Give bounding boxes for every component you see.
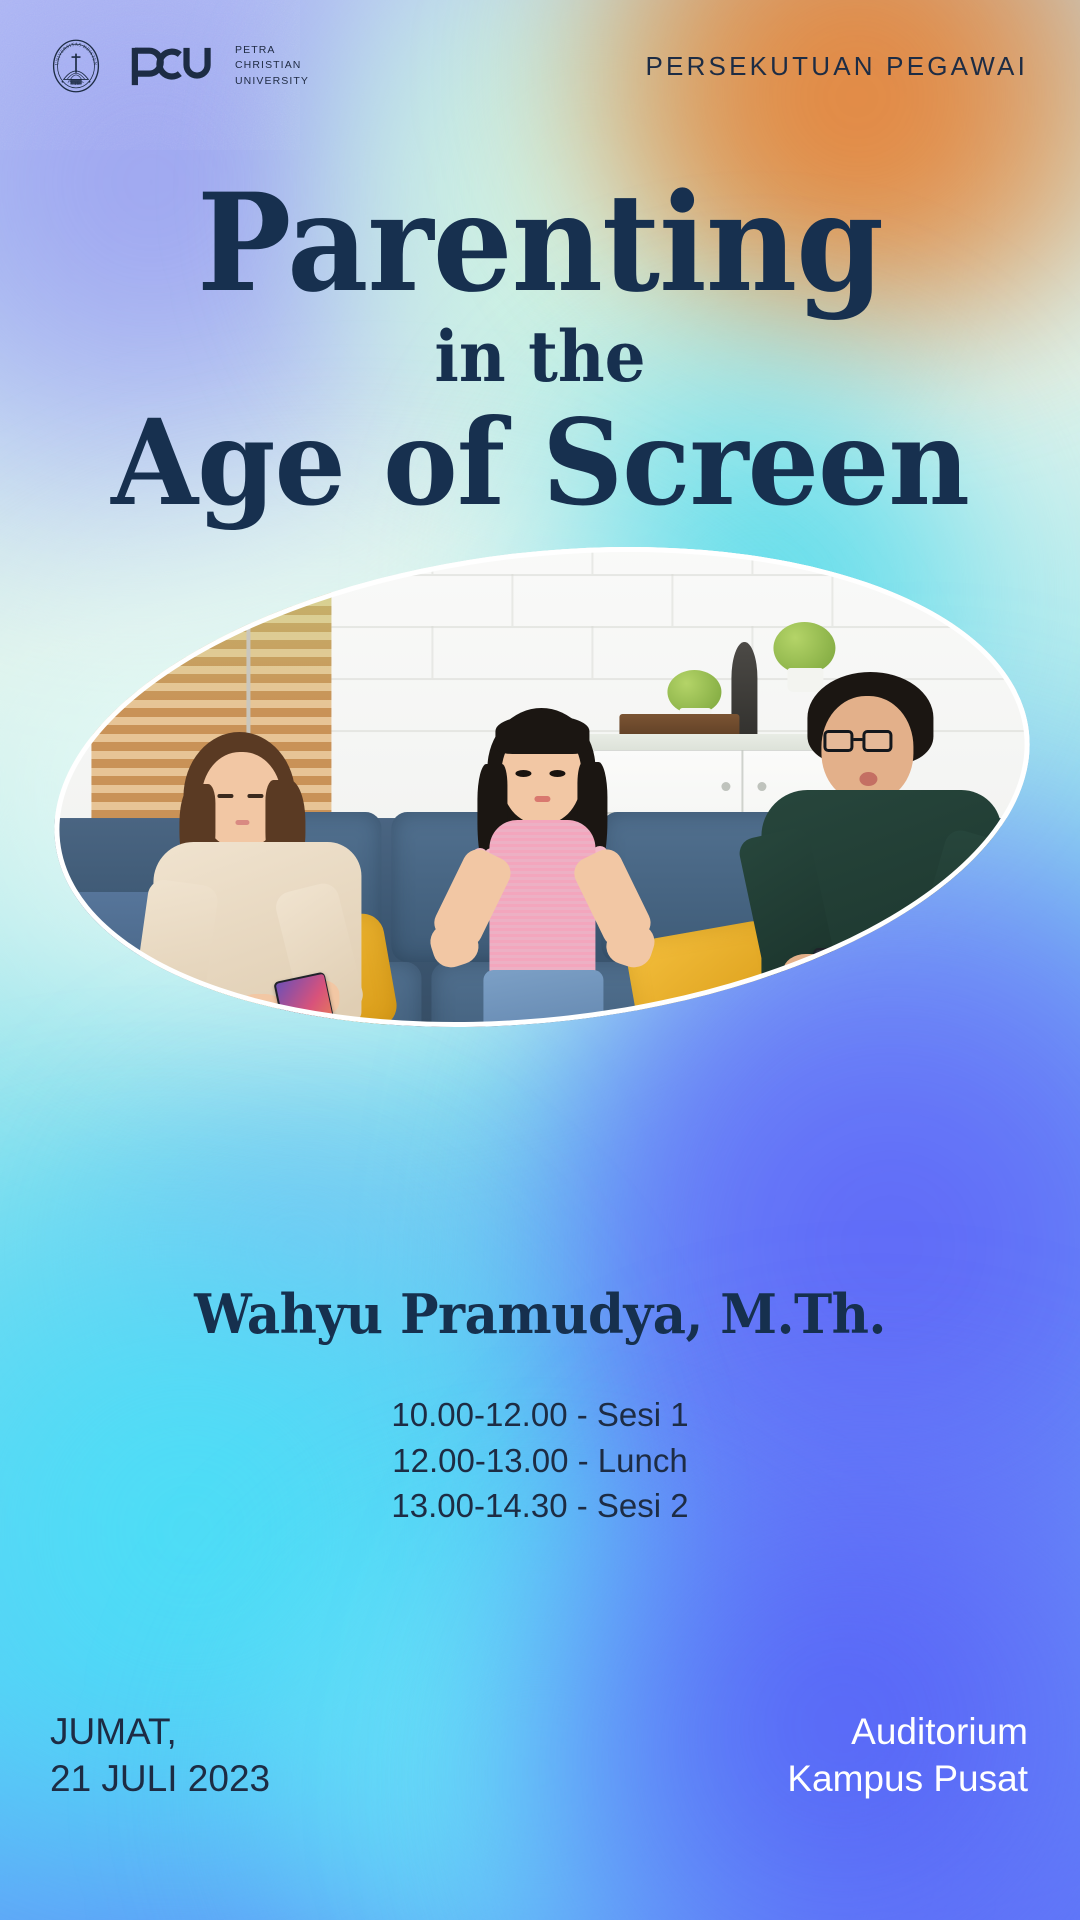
event-venue-line-1: Auditorium [787,1708,1028,1755]
schedule-row: 10.00-12.00 - Sesi 1 [0,1392,1080,1438]
event-venue: Auditorium Kampus Pusat [787,1708,1028,1803]
pcu-monogram-icon [128,44,224,88]
photo-oval-rotation [29,498,1056,1076]
person-girl [431,708,731,1076]
university-seal-icon: UNIVERSITAS KRISTEN PETRA [48,38,104,94]
poster-footer: JUMAT, 21 JULI 2023 Auditorium Kampus Pu… [0,1520,1080,1920]
phone-horizontal [813,948,921,992]
pcu-word-line-2: CHRISTIAN [235,59,309,72]
pcu-wordmark: PETRA CHRISTIAN UNIVERSITY [235,44,309,87]
event-venue-line-2: Kampus Pusat [787,1755,1028,1802]
event-poster: UNIVERSITAS KRISTEN PETRA [0,0,1080,1920]
person-father [751,672,1051,1076]
event-date: JUMAT, 21 JULI 2023 [50,1708,270,1803]
organization-title: PERSEKUTUAN PEGAWAI [646,51,1029,82]
pcu-logo-lockup: PETRA CHRISTIAN UNIVERSITY [128,44,309,88]
pcu-word-line-3: UNIVERSITY [235,75,309,88]
pcu-word-line-1: PETRA [235,44,309,57]
photo-clip-mask [29,498,1056,1076]
poster-header: UNIVERSITAS KRISTEN PETRA [0,0,1080,132]
decor-plant-tall [773,622,835,674]
family-photo [31,498,1051,1076]
schedule-row: 12.00-13.00 - Lunch [0,1438,1080,1484]
schedule-list: 10.00-12.00 - Sesi 1 12.00-13.00 - Lunch… [0,1392,1080,1529]
title-line-2: in the [43,322,1037,392]
speaker-name: Wahyu Pramudya, M.Th. [27,1282,1053,1346]
event-date-line-2: 21 JULI 2023 [50,1755,270,1802]
title-line-1: Parenting [38,180,1042,306]
photo-oval [52,552,1032,1022]
title-line-3: Age of Screen [27,406,1053,519]
event-date-line-1: JUMAT, [50,1708,270,1755]
person-mother [131,732,431,1076]
logo-group: UNIVERSITAS KRISTEN PETRA [48,38,309,94]
living-room-scene [31,498,1051,1076]
poster-title: Parenting in the Age of Screen [0,180,1080,519]
